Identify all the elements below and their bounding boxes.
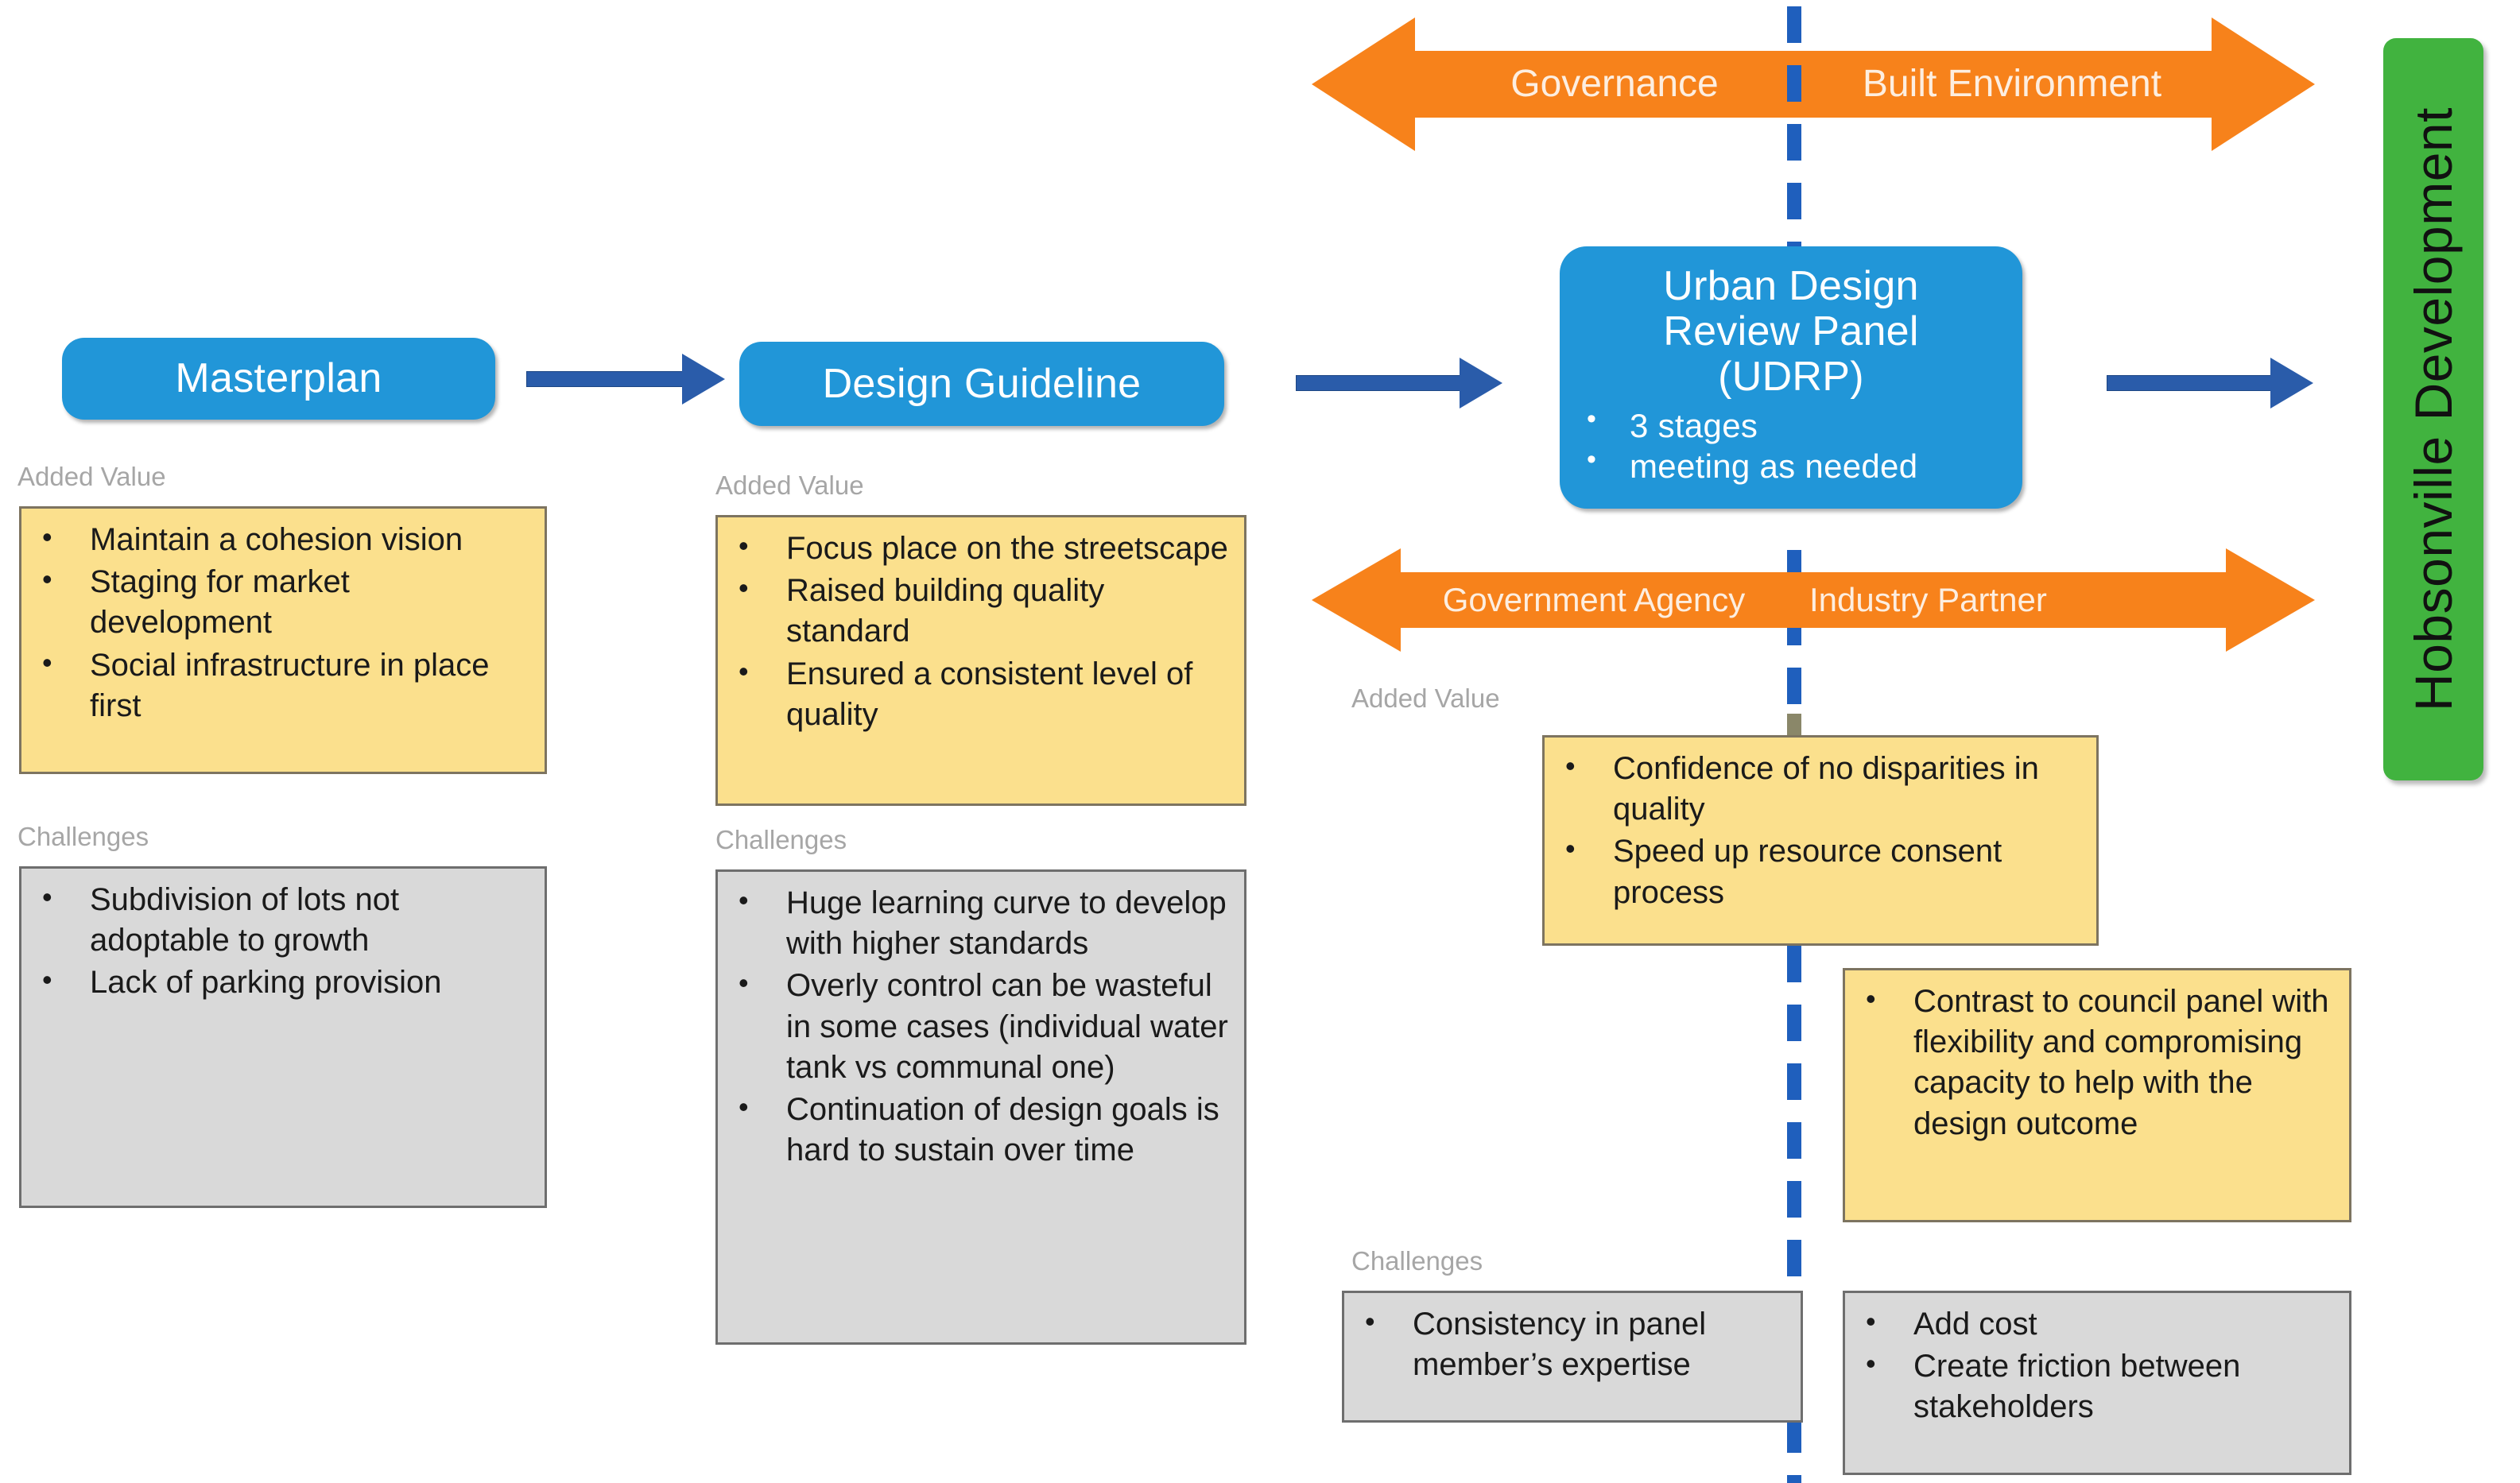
udrp-title: Urban Design Review Panel (UDRP)	[1663, 264, 1919, 401]
udrp-added-value-industry-box: Contrast to council panel with flexibili…	[1843, 968, 2351, 1222]
right-arrow-icon	[526, 354, 725, 405]
udrp-title-line-2: Review Panel	[1663, 308, 1919, 354]
udrp-added-value-caption: Added Value	[1351, 683, 1500, 714]
udrp-challenges-government-box: Consistency in panel member’s expertise	[1342, 1291, 1803, 1423]
axis-label-government-agency: Government Agency	[1401, 583, 1787, 617]
government-industry-arrow: Government Agency Industry Partner	[1312, 548, 2315, 652]
axis-label-built-environment: Built Environment	[1825, 65, 2199, 103]
list-item: meeting as needed	[1560, 446, 2022, 486]
list-item: Add cost	[1855, 1304, 2335, 1345]
masterplan-added-value-box: Maintain a cohesion vision Staging for m…	[19, 506, 547, 774]
design-guideline-added-value-caption: Added Value	[715, 470, 864, 501]
list-item: Consistency in panel member’s expertise	[1354, 1304, 1786, 1385]
list-item: Speed up resource consent process	[1554, 831, 2082, 912]
list-item: Overly control can be wasteful in some c…	[727, 966, 1230, 1088]
list-item: Continuation of design goals is hard to …	[727, 1090, 1230, 1171]
masterplan-label: Masterplan	[175, 357, 382, 401]
list-item: Ensured a consistent level of quality	[727, 654, 1230, 735]
masterplan-box[interactable]: Masterplan	[62, 338, 495, 420]
list-item: Subdivision of lots not adoptable to gro…	[31, 880, 530, 961]
udrp-bullet-list: 3 stages meeting as needed	[1560, 405, 2022, 486]
arrow-head-left-icon	[1312, 548, 1401, 652]
udrp-title-line-1: Urban Design	[1663, 263, 1919, 309]
list-item: Staging for market development	[31, 562, 530, 643]
governance-built-environment-arrow: Governance Built Environment	[1312, 17, 2315, 151]
hobsonville-development-label: Hobsonville Development	[2403, 107, 2464, 711]
list-item: Contrast to council panel with flexibili…	[1855, 982, 2335, 1144]
udrp-added-value-government-box: Confidence of no disparities in quality …	[1542, 735, 2099, 946]
arrow-head-left-icon	[1312, 17, 1415, 151]
list-item: Raised building quality standard	[727, 571, 1230, 652]
axis-label-industry-partner: Industry Partner	[1809, 583, 2143, 617]
design-guideline-challenges-box: Huge learning curve to develop with high…	[715, 869, 1246, 1345]
right-arrow-icon	[1296, 358, 1502, 409]
list-item: Create friction between stakeholders	[1855, 1346, 2335, 1427]
list-item: Huge learning curve to develop with high…	[727, 883, 1230, 964]
design-guideline-box[interactable]: Design Guideline	[739, 342, 1224, 426]
arrow-head-right-icon	[2226, 548, 2315, 652]
arrow-head-right-icon	[2212, 17, 2315, 151]
diagram-canvas: Governance Built Environment Urban Desig…	[0, 0, 2520, 1483]
list-item: Maintain a cohesion vision	[31, 520, 530, 560]
masterplan-challenges-caption: Challenges	[17, 822, 149, 852]
design-guideline-added-value-box: Focus place on the streetscape Raised bu…	[715, 515, 1246, 806]
hobsonville-development-banner[interactable]: Hobsonville Development	[2383, 38, 2483, 780]
design-guideline-challenges-caption: Challenges	[715, 825, 847, 855]
list-item: Confidence of no disparities in quality	[1554, 749, 2082, 830]
udrp-challenges-industry-box: Add cost Create friction between stakeho…	[1843, 1291, 2351, 1475]
vertical-dashed-divider-icon	[1787, 6, 1801, 261]
design-guideline-label: Design Guideline	[823, 362, 1142, 406]
masterplan-challenges-box: Subdivision of lots not adoptable to gro…	[19, 866, 547, 1208]
list-item: 3 stages	[1560, 405, 2022, 446]
list-item: Lack of parking provision	[31, 962, 530, 1003]
list-item: Social infrastructure in place first	[31, 645, 530, 726]
right-arrow-icon	[2107, 358, 2313, 409]
axis-label-governance: Governance	[1428, 65, 1801, 103]
masterplan-added-value-caption: Added Value	[17, 462, 166, 492]
list-item: Focus place on the streetscape	[727, 529, 1230, 569]
udrp-box[interactable]: Urban Design Review Panel (UDRP) 3 stage…	[1560, 246, 2022, 509]
udrp-title-line-3: (UDRP)	[1718, 354, 1864, 400]
udrp-challenges-caption: Challenges	[1351, 1246, 1483, 1276]
